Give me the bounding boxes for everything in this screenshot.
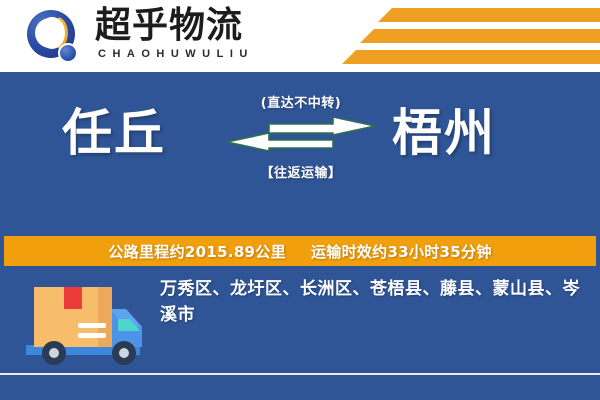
route-middle-block: (直达不中转) 【往返运输】 [225,92,377,181]
origin-city: 任丘 [62,102,166,164]
distance-text: 公路里程约2015.89公里 [108,243,286,261]
route-info-text: 公路里程约2015.89公里 运输时效约33小时35分钟 [108,241,491,262]
route-info-bar: 公路里程约2015.89公里 运输时效约33小时35分钟 [4,236,596,266]
orange-speed-stripes-icon [340,8,600,66]
brand-name-chinese: 超乎物流 [95,6,243,46]
direct-route-note: (直达不中转) [225,92,377,111]
logistics-route-banner: 超乎物流 CHAOHUWULIU 任丘 (直达不中转) 【往返运输】 梧州 [0,0,600,400]
delivery-truck-icon [22,275,152,371]
duration-text: 运输时效约33小时35分钟 [311,243,492,261]
destination-city: 梧州 [392,102,496,164]
bidirectional-arrow-icon [225,117,377,151]
bottom-divider [0,373,600,375]
covered-areas-text: 万秀区、龙圩区、长洲区、苍梧县、藤县、蒙山县、岑溪市 [160,276,592,328]
route-hero: 任丘 (直达不中转) 【往返运输】 梧州 [0,72,600,232]
coverage-section: 万秀区、龙圩区、长洲区、苍梧县、藤县、蒙山县、岑溪市 [0,272,600,400]
chaohu-q-logo-icon [27,10,83,66]
brand-name-pinyin: CHAOHUWULIU [98,48,254,60]
banner-header: 超乎物流 CHAOHUWULIU [0,0,600,72]
banner-body: 任丘 (直达不中转) 【往返运输】 梧州 公路里程约2015.89公里 运输时效… [0,72,600,400]
logo-accent-dot [58,43,78,63]
round-trip-note: 【往返运输】 [225,162,377,181]
